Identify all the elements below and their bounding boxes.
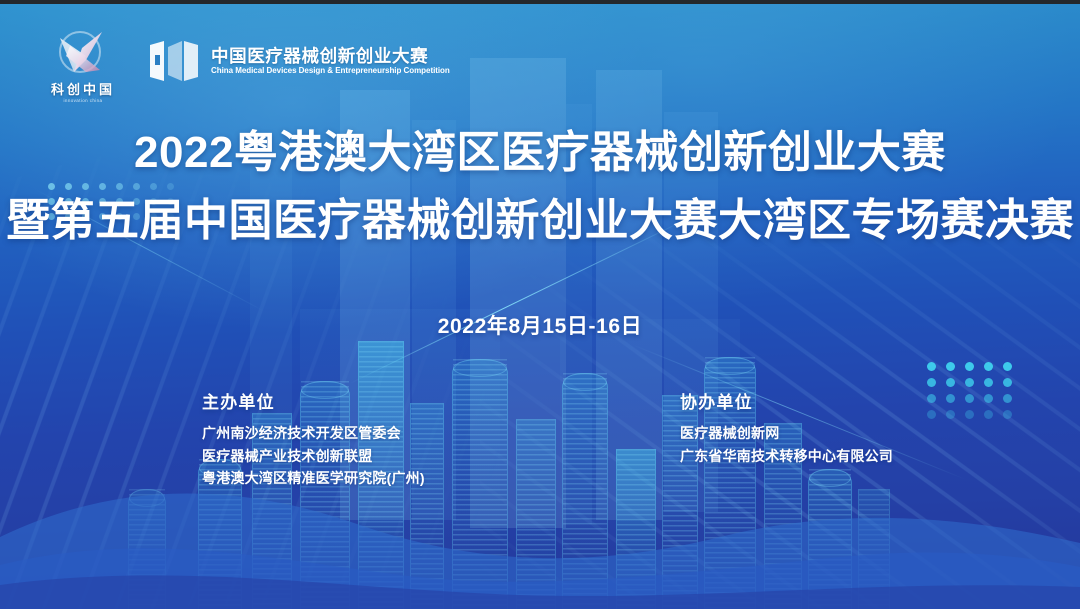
kechuang-logo-en: innovation china <box>40 99 126 104</box>
bottom-waves <box>0 439 1080 609</box>
event-date: 2022年8月15日-16日 <box>0 310 1080 340</box>
competition-logo-en: China Medical Devices Design & Entrepren… <box>211 67 450 76</box>
host-organizer-item: 医疗器械产业技术创新联盟 <box>202 445 425 468</box>
kechuang-logo-cn: 科创中国 <box>40 83 126 96</box>
top-dark-bar <box>0 0 1080 4</box>
co-organizer-title: 协办单位 <box>680 388 893 413</box>
event-banner: 科创中国 innovation china 中国医疗器械创新创业大赛 China… <box>0 0 1080 609</box>
competition-logo-text: 中国医疗器械创新创业大赛 China Medical Devices Desig… <box>211 47 455 76</box>
headline-line-2: 暨第五届中国医疗器械创新创业大赛大湾区专场赛决赛 <box>0 194 1080 248</box>
dot-grid-right <box>927 362 1022 426</box>
competition-logo-cn: 中国医疗器械创新创业大赛 <box>211 47 455 65</box>
co-organizer-item: 广东省华南技术转移中心有限公司 <box>680 445 893 468</box>
china-medical-devices-competition-logo: 中国医疗器械创新创业大赛 China Medical Devices Desig… <box>148 39 455 83</box>
kechuang-bird-icon <box>40 26 126 82</box>
host-organizer-item: 广州南沙经济技术开发区管委会 <box>202 422 425 445</box>
host-organizer-item: 粤港澳大湾区精准医学研究院(广州) <box>202 467 425 490</box>
kechuang-china-logo: 科创中国 innovation china <box>40 26 126 96</box>
host-organizer-title: 主办单位 <box>202 388 425 413</box>
co-organizer-item: 医疗器械创新网 <box>680 422 893 445</box>
co-organizer-block: 协办单位 医疗器械创新网 广东省华南技术转移中心有限公司 <box>680 388 893 467</box>
host-organizer-block: 主办单位 广州南沙经济技术开发区管委会 医疗器械产业技术创新联盟 粤港澳大湾区精… <box>202 388 425 490</box>
headline-line-1: 2022粤港澳大湾区医疗器械创新创业大赛 <box>0 126 1080 180</box>
headline-block: 2022粤港澳大湾区医疗器械创新创业大赛 暨第五届中国医疗器械创新创业大赛大湾区… <box>0 126 1080 247</box>
open-door-icon <box>148 39 200 83</box>
logo-row: 科创中国 innovation china 中国医疗器械创新创业大赛 China… <box>40 26 455 96</box>
